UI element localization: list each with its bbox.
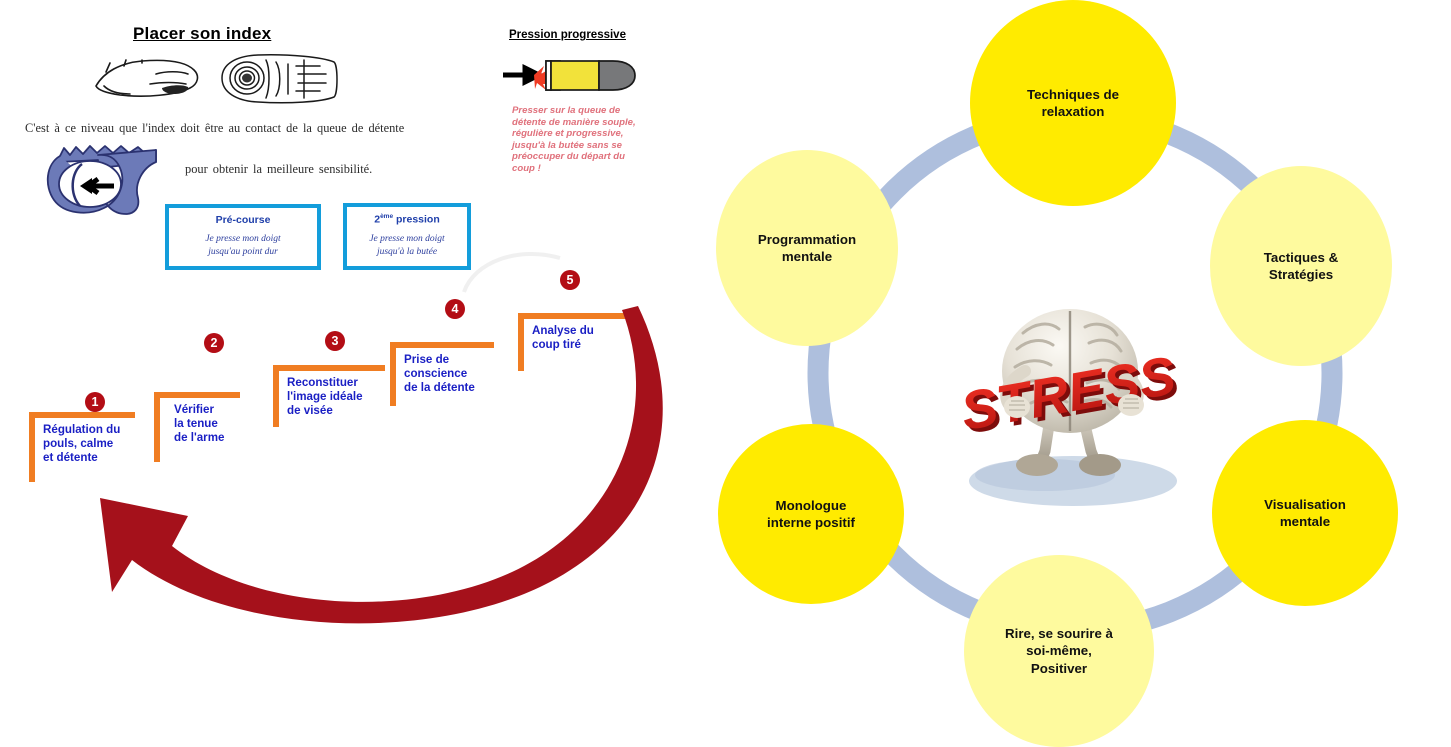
- right-panel-stress-cycle: Techniques de relaxation Tactiques & Str…: [700, 0, 1451, 747]
- step-badge-5: 5: [560, 270, 580, 290]
- trigger-guard-icon: [38, 142, 162, 218]
- node-label: Programmation mentale: [758, 231, 856, 266]
- cycle-arrow-icon: [60, 300, 670, 630]
- node-label: Monologue interne positif: [767, 497, 855, 532]
- node-programmation-mentale[interactable]: Programmation mentale: [716, 150, 898, 346]
- info-box-title-sup: ème: [380, 213, 393, 220]
- info-box-line-2: jusqu'à la butée: [347, 246, 467, 259]
- node-rire-positiver[interactable]: Rire, se sourire à soi-même, Positiver: [964, 555, 1154, 747]
- red-annotation-text: Presser sur la queue de détente de maniè…: [512, 105, 640, 175]
- node-monologue-interne-positif[interactable]: Monologue interne positif: [718, 424, 904, 604]
- node-techniques-de-relaxation[interactable]: Techniques de relaxation: [970, 0, 1176, 206]
- node-visualisation-mentale[interactable]: Visualisation mentale: [1212, 420, 1398, 606]
- page-title-placer-son-index: Placer son index: [133, 24, 271, 44]
- bullet-cartridge-icon: [501, 52, 641, 98]
- left-panel-trigger-technique: Placer son index Pression progressive: [0, 0, 700, 747]
- caption-line-1: C'est à ce niveau que l'index doit être …: [25, 121, 404, 136]
- brain-stress-illustration: STRESS STRESS: [925, 275, 1225, 510]
- node-tactiques-strategies[interactable]: Tactiques & Stratégies: [1210, 166, 1392, 366]
- step-riser: [29, 412, 35, 482]
- node-label: Rire, se sourire à soi-même, Positiver: [1005, 625, 1113, 678]
- node-label: Techniques de relaxation: [1027, 86, 1119, 121]
- finger-illustration: [90, 50, 340, 108]
- node-label: Visualisation mentale: [1264, 496, 1346, 531]
- section-title-pression-progressive: Pression progressive: [509, 29, 626, 41]
- info-box-line-2: jusqu'au point dur: [169, 246, 317, 259]
- info-box-pre-course: Pré-course Je presse mon doigt jusqu'au …: [165, 204, 321, 270]
- info-box-title: Pré-course: [169, 214, 317, 226]
- caption-line-2: pour obtenir la meilleure sensibilité.: [185, 162, 372, 177]
- info-box-title: 2ème pression: [347, 213, 467, 226]
- info-box-deuxieme-pression: 2ème pression Je presse mon doigt jusqu'…: [343, 203, 471, 270]
- slide-canvas: Placer son index Pression progressive: [0, 0, 1451, 747]
- node-label: Tactiques & Stratégies: [1264, 249, 1338, 284]
- info-box-line-1: Je presse mon doigt: [169, 233, 317, 246]
- info-box-title-word: pression: [393, 214, 440, 226]
- info-box-line-1: Je presse mon doigt: [347, 233, 467, 246]
